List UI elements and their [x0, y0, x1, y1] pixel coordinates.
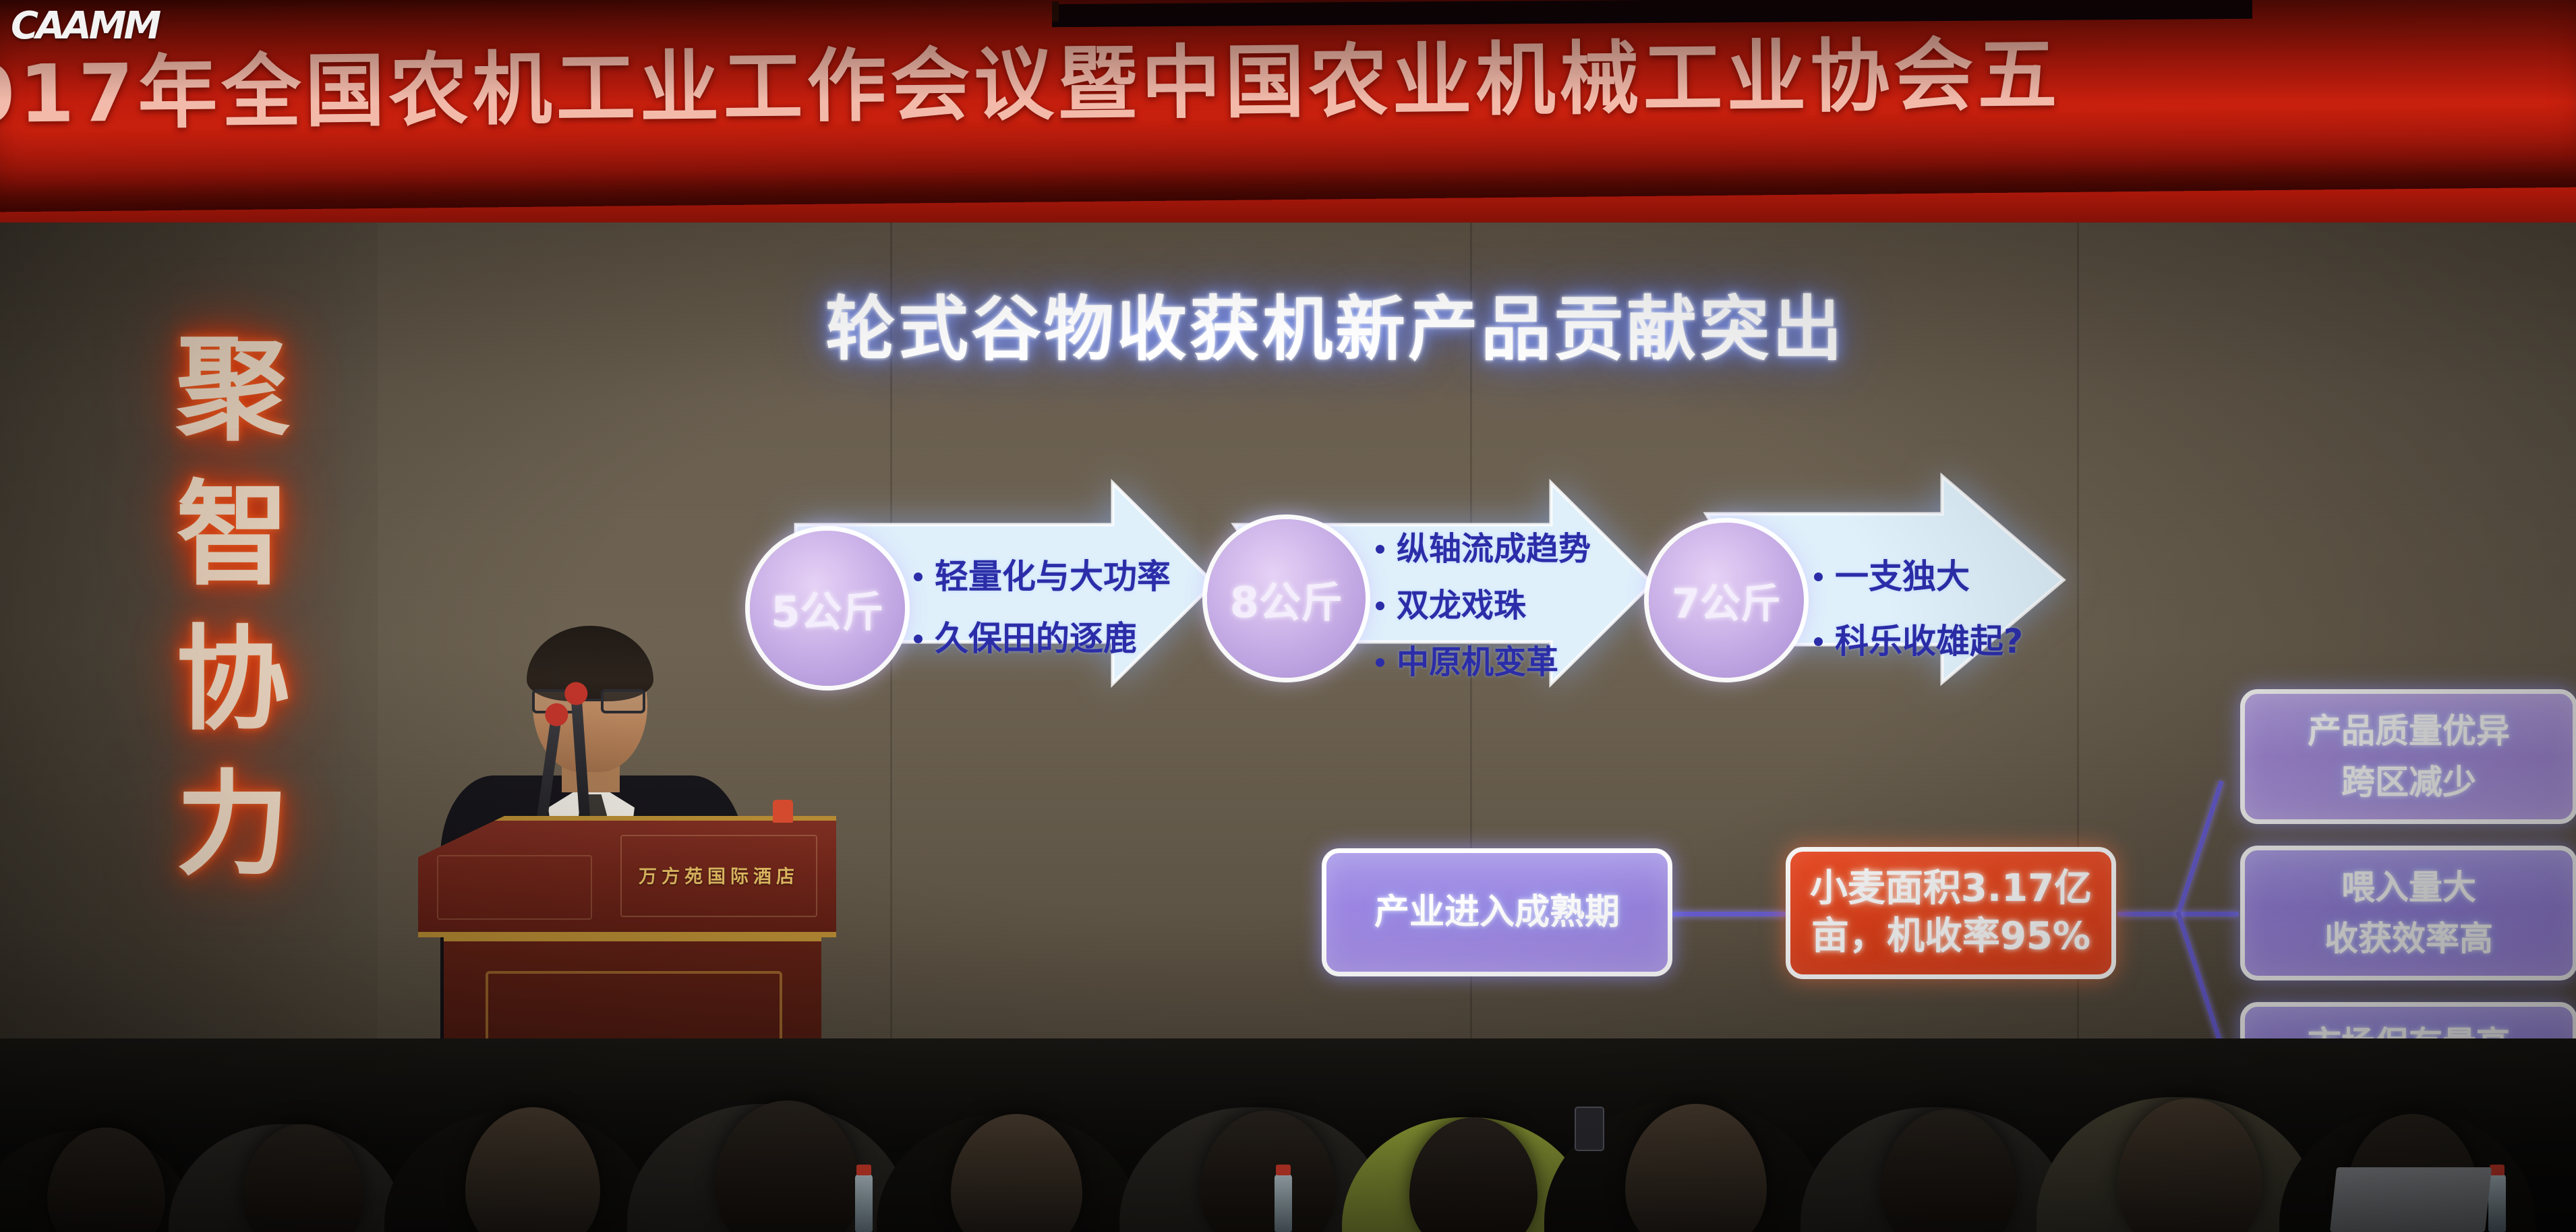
audience-silhouettes: [0, 998, 2576, 1232]
box-label: 产业进入成熟期: [1374, 892, 1620, 933]
box-label-line1: 喂入量大: [2341, 868, 2476, 907]
calligraphy-char-3: 协: [121, 607, 344, 752]
calligraphy-char-2: 智: [121, 462, 344, 607]
arrow-badge-2: 8公斤: [1207, 519, 1366, 678]
arrow-bullet-item: 双龙戏珠: [1376, 589, 1591, 622]
box-wheat-highlight: 小麦面积3.17亿 亩，机收率95%: [1786, 847, 2116, 979]
arrow-bullet-list-3: 一支独大 科乐收雄起?: [1814, 560, 2023, 658]
slide-title: 轮式谷物收获机新产品贡献突出: [695, 290, 1976, 368]
water-bottle-icon: [1275, 1174, 1292, 1232]
box-label-line2: 亩，机收率95%: [1811, 915, 2090, 959]
bullet-dot-icon: [1814, 637, 1823, 646]
caamm-watermark-logo: CAAMM: [11, 4, 158, 48]
laptop-icon: [2330, 1167, 2492, 1232]
arrow-bullet-item: 久保田的逐鹿: [914, 622, 1171, 655]
calligraphy-char-4: 力: [121, 752, 344, 897]
box-label-line2: 跨区减少: [2341, 763, 2476, 802]
arrow-badge-3: 7公斤: [1649, 523, 1804, 678]
box-label-line1: 小麦面积3.17亿: [1810, 867, 2092, 911]
banner-hook-icon: [1052, 1, 1059, 22]
water-bottle-icon: [855, 1174, 873, 1232]
phone-icon: [1575, 1107, 1604, 1151]
arrow-bullet-item: 轻量化与大功率: [914, 560, 1171, 593]
box-label-line1: 产品质量优异: [2308, 711, 2510, 751]
box-right-feedrate: 喂入量大 收获效率高: [2240, 846, 2576, 980]
bullet-text: 轻量化与大功率: [935, 560, 1171, 593]
box-label-line2: 收获效率高: [2324, 919, 2493, 958]
box-right-quality: 产品质量优异 跨区减少: [2240, 689, 2576, 824]
bullet-dot-icon: [1376, 545, 1384, 554]
arrow-bullet-list-2: 纵轴流成趋势 双龙戏珠 中原机变革: [1376, 533, 1591, 678]
bullet-dot-icon: [914, 635, 923, 643]
bullet-text: 一支独大: [1835, 560, 1970, 593]
lectern-panel-inset-left: [437, 855, 592, 920]
bullet-dot-icon: [1814, 573, 1823, 581]
water-bottle-icon: [2488, 1174, 2506, 1232]
bullet-dot-icon: [1376, 602, 1384, 610]
box-industry-maturity: 产业进入成熟期: [1322, 848, 1672, 976]
arrow-bullet-item: 纵轴流成趋势: [1376, 533, 1591, 565]
bullet-text: 纵轴流成趋势: [1397, 533, 1591, 565]
lectern-red-marker: [773, 800, 793, 823]
bullet-text: 中原机变革: [1397, 646, 1558, 678]
stage-banner: 017年全国农机工业工作会议暨中国农业机械工业协会五: [0, 0, 2576, 229]
calligraphy-char-1: 聚: [121, 317, 344, 462]
arrow-bullet-item: 一支独大: [1814, 560, 2023, 593]
arrow-bullet-item: 中原机变革: [1376, 646, 1591, 678]
bullet-text: 久保田的逐鹿: [935, 622, 1137, 655]
bullet-text: 双龙戏珠: [1397, 589, 1526, 622]
connector-maturity-to-highlight: [1666, 912, 1787, 916]
arrow-bullet-list-1: 轻量化与大功率 久保田的逐鹿: [914, 560, 1171, 655]
arrow-bullet-item: 科乐收雄起?: [1814, 624, 2023, 658]
conference-photo-stage: 017年全国农机工业工作会议暨中国农业机械工业协会五 聚 智 协 力 轮式谷物收…: [0, 0, 2576, 1232]
bullet-dot-icon: [914, 573, 923, 581]
projected-calligraphy: 聚 智 协 力: [121, 317, 344, 897]
bullet-text: 科乐收雄起?: [1835, 624, 2023, 658]
bullet-dot-icon: [1376, 658, 1384, 667]
lectern-hotel-name: 万方苑国际酒店: [620, 862, 817, 888]
